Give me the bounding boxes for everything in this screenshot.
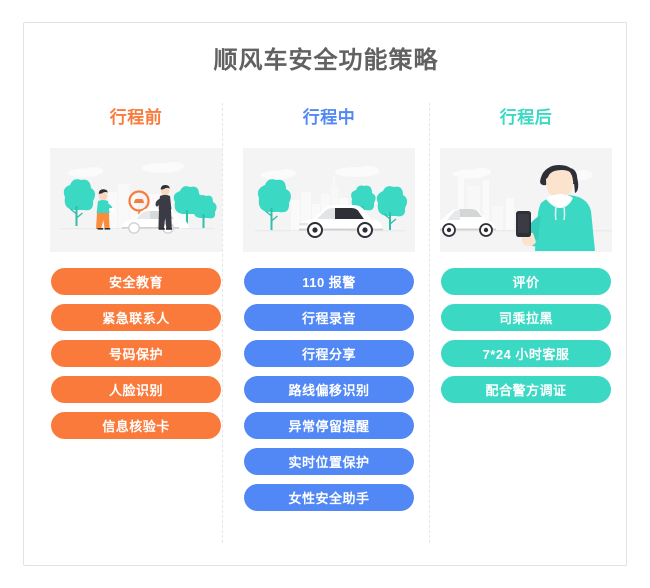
feature-pill[interactable]: 号码保护 [51, 340, 221, 367]
feature-list-after: 评价 司乘拉黑 7*24 小时客服 配合警方调证 [436, 268, 616, 403]
illustration-during-trip [243, 148, 415, 252]
column-after-trip: 行程后 [436, 103, 616, 412]
column-header-after: 行程后 [436, 103, 616, 128]
feature-pill[interactable]: 女性安全助手 [244, 484, 414, 511]
column-header-before: 行程前 [46, 103, 226, 128]
page-title: 顺风车安全功能策略 [24, 40, 628, 75]
feature-pill[interactable]: 异常停留提醒 [244, 412, 414, 439]
feature-pill[interactable]: 人脸识别 [51, 376, 221, 403]
illustration-before-trip [50, 148, 222, 252]
feature-pill[interactable]: 路线偏移识别 [244, 376, 414, 403]
feature-pill[interactable]: 110 报警 [244, 268, 414, 295]
feature-pill[interactable]: 行程分享 [244, 340, 414, 367]
diagram-card: 顺风车安全功能策略 行程前 [23, 22, 627, 566]
column-before-trip: 行程前 [46, 103, 226, 448]
feature-pill[interactable]: 信息核验卡 [51, 412, 221, 439]
feature-list-during: 110 报警 行程录音 行程分享 路线偏移识别 异常停留提醒 实时位置保护 女性… [239, 268, 419, 511]
column-header-during: 行程中 [239, 103, 419, 128]
car-driving-illustration-icon [243, 148, 415, 252]
person-holding-phone-icon [440, 148, 612, 252]
feature-pill[interactable]: 安全教育 [51, 268, 221, 295]
illustration-after-trip [440, 148, 612, 252]
feature-pill[interactable]: 评价 [441, 268, 611, 295]
feature-pill[interactable]: 7*24 小时客服 [441, 340, 611, 367]
feature-pill[interactable]: 配合警方调证 [441, 376, 611, 403]
feature-pill[interactable]: 司乘拉黑 [441, 304, 611, 331]
feature-pill[interactable]: 紧急联系人 [51, 304, 221, 331]
column-during-trip: 行程中 [239, 103, 419, 520]
feature-pill[interactable]: 实时位置保护 [244, 448, 414, 475]
passenger-waiting-with-car-and-pickup-sign-icon [50, 148, 222, 252]
column-divider-2 [429, 103, 430, 543]
feature-list-before: 安全教育 紧急联系人 号码保护 人脸识别 信息核验卡 [46, 268, 226, 439]
feature-pill[interactable]: 行程录音 [244, 304, 414, 331]
